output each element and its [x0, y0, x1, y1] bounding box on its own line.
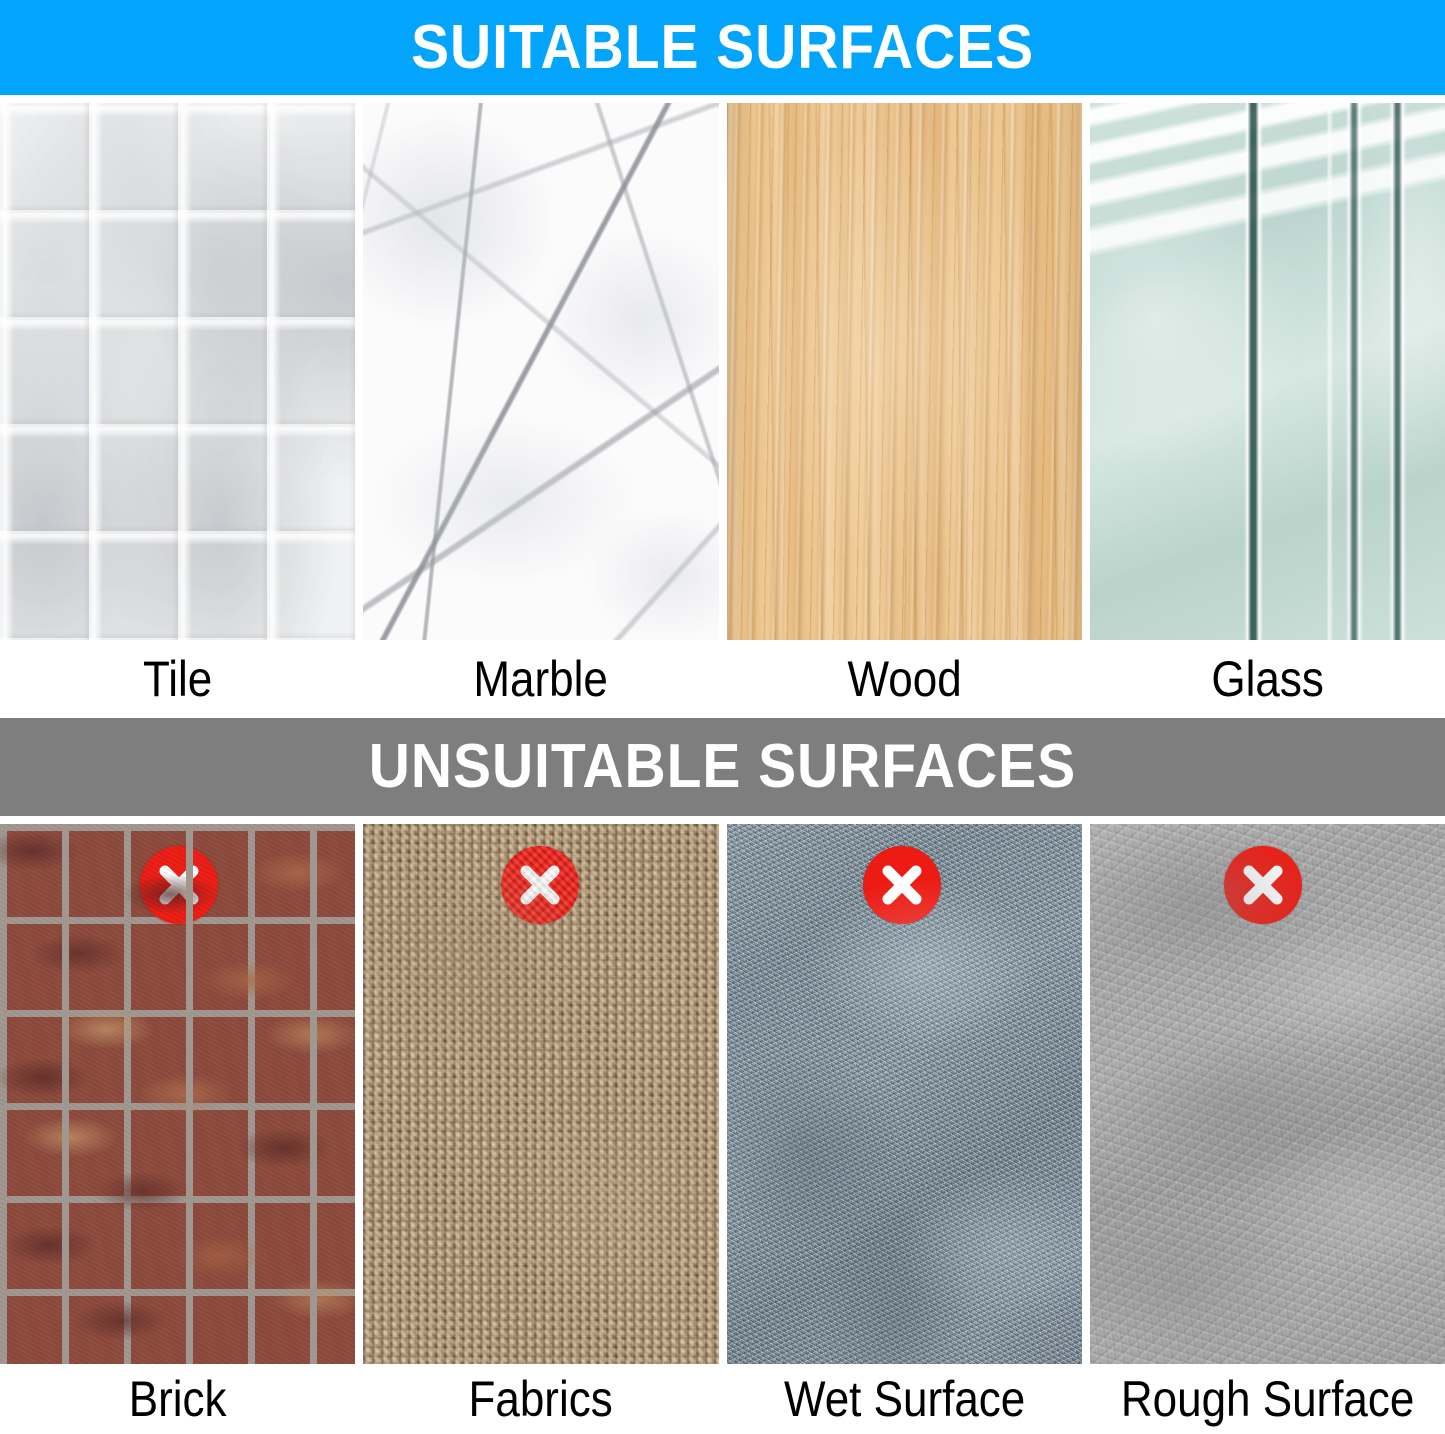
- surface-card-marble[interactable]: Marble: [363, 103, 718, 718]
- tile-label: Tile: [21, 640, 334, 718]
- unsuitable-surfaces-title: UNSUITABLE SURFACES: [369, 736, 1076, 798]
- x-circle-icon: [1224, 846, 1302, 924]
- surface-card-rough-surface[interactable]: Rough Surface: [1090, 824, 1445, 1434]
- surface-card-fabrics[interactable]: Fabrics: [363, 824, 718, 1434]
- surface-card-glass[interactable]: Glass: [1090, 103, 1445, 718]
- banner-image-spacer-top: [0, 95, 1445, 103]
- wood-texture-image: [727, 103, 1082, 640]
- suitable-surfaces-banner: SUITABLE SURFACES: [0, 0, 1445, 95]
- wet-surface-texture-image: [727, 824, 1082, 1364]
- surface-card-tile[interactable]: Tile: [0, 103, 355, 718]
- rough-surface-texture-image: [1090, 824, 1445, 1364]
- glass-texture-image: [1090, 103, 1445, 640]
- fabric-texture-image: [363, 824, 718, 1364]
- marble-label: Marble: [385, 640, 698, 718]
- fabrics-label: Fabrics: [385, 1364, 698, 1434]
- x-circle-icon: [140, 846, 218, 924]
- suitable-surfaces-row: Tile Marble Wood Glass: [0, 103, 1445, 718]
- glass-label: Glass: [1111, 640, 1424, 718]
- tile-texture-image: [0, 103, 355, 640]
- rough-surface-label: Rough Surface: [1111, 1364, 1424, 1434]
- brick-label: Brick: [21, 1364, 334, 1434]
- brick-texture-image: [0, 824, 355, 1364]
- x-circle-icon: [501, 846, 579, 924]
- banner-image-spacer-bottom: [0, 816, 1445, 824]
- wood-label: Wood: [748, 640, 1061, 718]
- wet-surface-label: Wet Surface: [748, 1364, 1061, 1434]
- unsuitable-surfaces-row: Brick Fabrics: [0, 824, 1445, 1434]
- surface-card-wood[interactable]: Wood: [727, 103, 1082, 718]
- unsuitable-surfaces-banner: UNSUITABLE SURFACES: [0, 718, 1445, 816]
- surface-card-brick[interactable]: Brick: [0, 824, 355, 1434]
- x-circle-icon: [863, 846, 941, 924]
- suitable-surfaces-title: SUITABLE SURFACES: [411, 17, 1034, 79]
- marble-texture-image: [363, 103, 718, 640]
- surface-card-wet-surface[interactable]: Wet Surface: [727, 824, 1082, 1434]
